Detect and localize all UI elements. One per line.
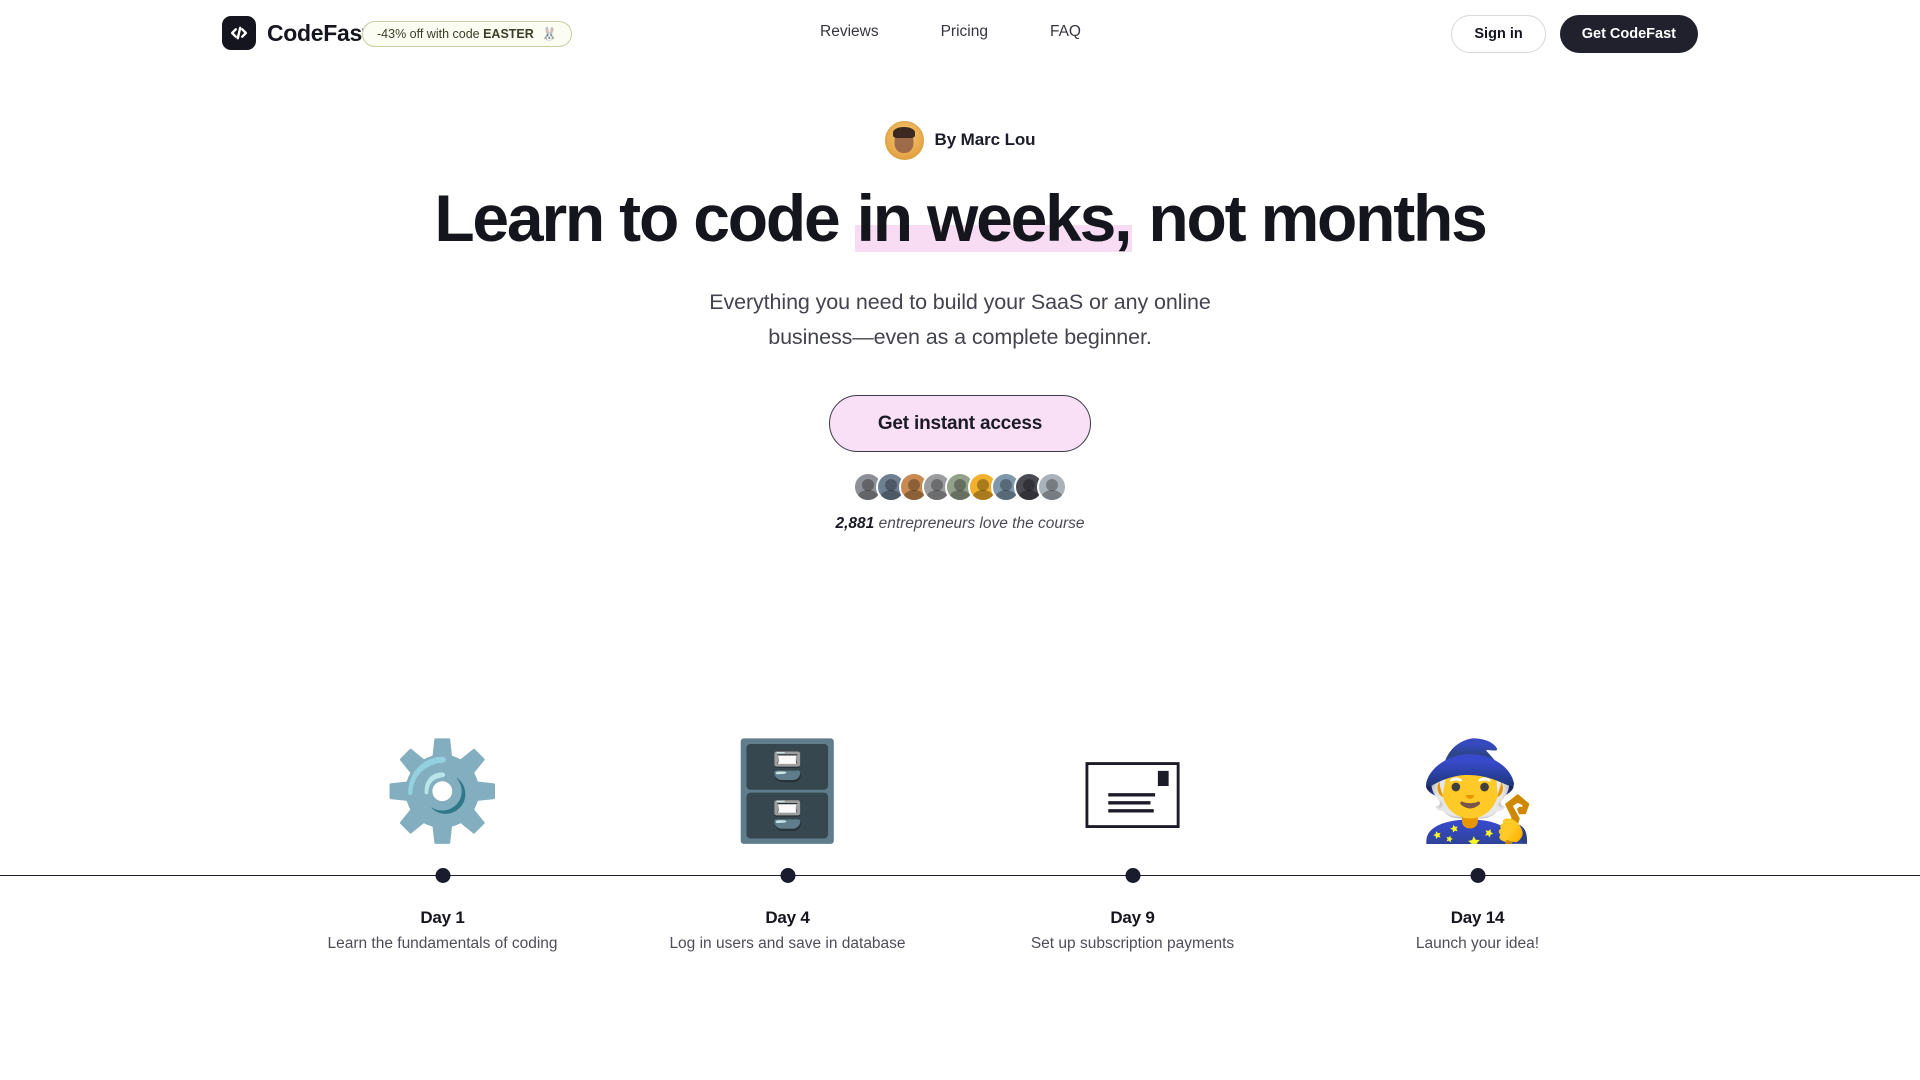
rabbit-emoji: 🐰 <box>542 28 558 41</box>
social-proof-text: 2,881 entrepreneurs love the course <box>0 515 1920 533</box>
payment-terminal-emoji: 🖃 <box>1076 640 1188 840</box>
timeline-dot <box>780 868 795 883</box>
subtitle-line-2: business—even as a complete beginner. <box>768 325 1152 349</box>
landing-page: CodeFast -43% off with code EASTER 🐰 Rev… <box>0 0 1920 1080</box>
promo-prefix: -43% off with code <box>377 27 483 41</box>
avatar <box>1037 472 1067 502</box>
timeline-dot <box>1470 868 1485 883</box>
author-byline: By Marc Lou <box>0 120 1920 160</box>
header-actions: Sign in Get CodeFast <box>1451 15 1698 53</box>
brand-name: CodeFast <box>267 22 369 45</box>
timeline-day-label: Day 9 <box>1110 908 1154 928</box>
brand-logo[interactable]: CodeFast <box>222 16 369 50</box>
gear-emoji: ⚙️ <box>383 640 503 840</box>
headline-part-2: not months <box>1132 181 1485 255</box>
sign-in-button[interactable]: Sign in <box>1451 15 1545 53</box>
nav-item-faq[interactable]: FAQ <box>1050 24 1081 40</box>
page-title: Learn to code in weeks, not months <box>0 184 1920 254</box>
hero-subtitle: Everything you need to build your SaaS o… <box>0 285 1920 355</box>
timeline-day-label: Day 14 <box>1451 908 1505 928</box>
cta-container: Get instant access <box>0 395 1920 452</box>
headline-highlight: in weeks, <box>855 184 1133 254</box>
promo-badge[interactable]: -43% off with code EASTER 🐰 <box>362 21 572 47</box>
promo-code: EASTER <box>483 27 534 41</box>
timeline-item: ⚙️ Day 1 Learn the fundamentals of codin… <box>270 640 615 980</box>
headline-part-1: Learn to code <box>434 181 854 255</box>
subtitle-line-1: Everything you need to build your SaaS o… <box>709 290 1211 314</box>
promo-text: -43% off with code EASTER <box>377 28 534 41</box>
get-codefast-button[interactable]: Get CodeFast <box>1560 15 1698 53</box>
server-rack-emoji: 🗄️ <box>728 640 848 840</box>
timeline-item: 🖃 Day 9 Set up subscription payments <box>960 640 1305 980</box>
social-proof-label: entrepreneurs love the course <box>874 515 1084 532</box>
main-nav: Reviews Pricing FAQ <box>820 24 1081 40</box>
social-proof-count: 2,881 <box>835 515 874 532</box>
timeline-items: ⚙️ Day 1 Learn the fundamentals of codin… <box>270 640 1650 980</box>
timeline-description: Launch your idea! <box>1416 935 1539 953</box>
code-brackets-icon <box>222 16 256 50</box>
nav-item-pricing[interactable]: Pricing <box>941 24 988 40</box>
timeline-dot <box>435 868 450 883</box>
author-name: By Marc Lou <box>935 130 1036 150</box>
customer-avatars <box>0 472 1920 502</box>
timeline-description: Learn the fundamentals of coding <box>327 935 557 953</box>
timeline-dot <box>1125 868 1140 883</box>
timeline-item: 🗄️ Day 4 Log in users and save in databa… <box>615 640 960 980</box>
timeline-description: Log in users and save in database <box>669 935 905 953</box>
timeline-day-label: Day 1 <box>420 908 464 928</box>
wizard-emoji: 🧙 <box>1418 640 1538 840</box>
site-header: CodeFast -43% off with code EASTER 🐰 Rev… <box>0 0 1920 68</box>
author-avatar <box>885 121 924 160</box>
course-timeline: ⚙️ Day 1 Learn the fundamentals of codin… <box>0 640 1920 980</box>
nav-item-reviews[interactable]: Reviews <box>820 24 879 40</box>
timeline-description: Set up subscription payments <box>1031 935 1234 953</box>
hero-section: By Marc Lou Learn to code in weeks, not … <box>0 120 1920 533</box>
get-instant-access-button[interactable]: Get instant access <box>829 395 1091 452</box>
timeline-day-label: Day 4 <box>765 908 809 928</box>
timeline-item: 🧙 Day 14 Launch your idea! <box>1305 640 1650 980</box>
